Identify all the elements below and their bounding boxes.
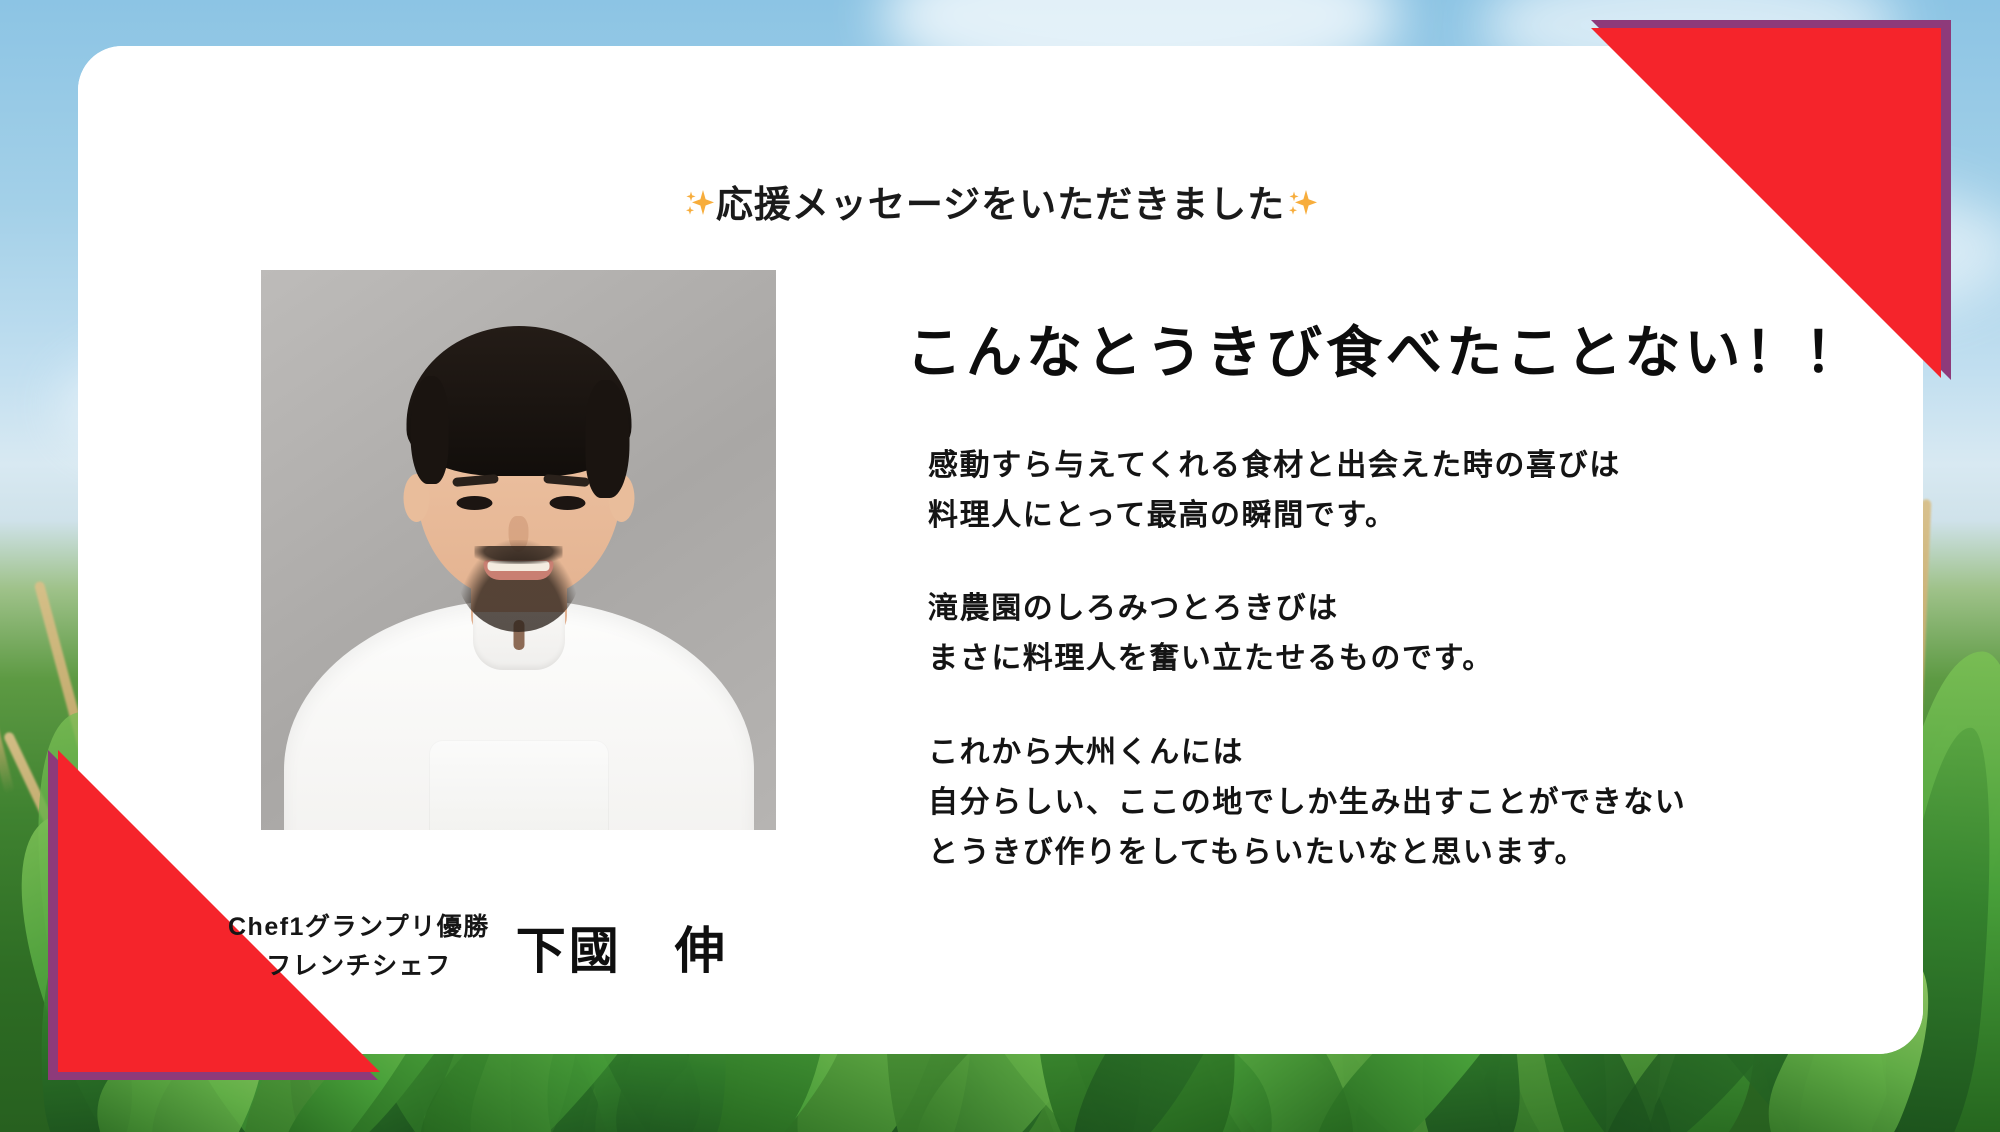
chef-hair bbox=[406, 326, 631, 476]
corn-stalk bbox=[1959, 893, 1977, 1132]
quote-title: こんなとうきび食べたことない！！ bbox=[906, 322, 1866, 385]
card-content: 応援メッセージをいただきました bbox=[78, 46, 1923, 1054]
quote-line: 自分らしい、ここの地でしか生み出すことができない bbox=[928, 778, 1866, 828]
quote-paragraph: 滝農園のしろみつとろきびは まさに料理人を奮い立たせるものです。 bbox=[906, 584, 1866, 684]
corn-leaf bbox=[1929, 693, 2000, 1132]
corn-leaf bbox=[1976, 797, 2000, 1132]
corn-leaf bbox=[1962, 741, 2000, 1132]
chef-role-line2: フレンチシェフ bbox=[228, 947, 490, 986]
chef-eyebrow-left bbox=[452, 474, 499, 487]
quote-line: 料理人にとって最高の瞬間です。 bbox=[928, 491, 1866, 541]
chef-face bbox=[416, 344, 621, 599]
chef-eye-left bbox=[456, 496, 492, 510]
quote-line: まさに料理人を奮い立たせるものです。 bbox=[928, 634, 1866, 684]
quote-line: 滝農園のしろみつとろきびは bbox=[928, 584, 1866, 634]
corn-tassel bbox=[1987, 712, 2000, 873]
chef-caption-row: Chef1グランプリ優勝 フレンチシェフ 下國 伸 bbox=[228, 908, 848, 986]
chef-role: Chef1グランプリ優勝 フレンチシェフ bbox=[228, 908, 490, 986]
chef-eyebrow-right bbox=[543, 474, 590, 487]
sparkles-icon bbox=[682, 187, 716, 221]
support-message-header-text: 応援メッセージをいただきました bbox=[716, 174, 1285, 228]
message-card: 応援メッセージをいただきました bbox=[78, 46, 1923, 1054]
quote-line: とうきび作りをしてもらいたいなと思います。 bbox=[928, 828, 1866, 878]
chef-portrait-photo bbox=[261, 270, 776, 830]
poster-canvas: 応援メッセージをいただきました bbox=[0, 0, 2000, 1132]
quote-column: こんなとうきび食べたことない！！ 感動すら与えてくれる食材と出会えた時の喜びは … bbox=[906, 322, 1866, 877]
corn-tassel bbox=[0, 624, 15, 794]
quote-paragraph: 感動すら与えてくれる食材と出会えた時の喜びは 料理人にとって最高の瞬間です。 bbox=[906, 441, 1866, 541]
sparkles-icon bbox=[1285, 187, 1319, 221]
quote-paragraph: これから大州くんには 自分らしい、ここの地でしか生み出すことができない とうきび… bbox=[906, 728, 1866, 877]
quote-line: 感動すら与えてくれる食材と出会えた時の喜びは bbox=[928, 441, 1866, 491]
quote-line: これから大州くんには bbox=[928, 728, 1866, 778]
chef-eye-right bbox=[549, 496, 585, 510]
chef-apron bbox=[429, 740, 609, 830]
chef-moustache bbox=[475, 546, 563, 564]
corn-stalk bbox=[1924, 785, 1942, 1132]
chef-role-line1: Chef1グランプリ優勝 bbox=[228, 908, 490, 947]
chef-name: 下國 伸 bbox=[516, 911, 728, 983]
support-message-header: 応援メッセージをいただきました bbox=[78, 174, 1923, 228]
corn-leaf bbox=[0, 966, 14, 1132]
